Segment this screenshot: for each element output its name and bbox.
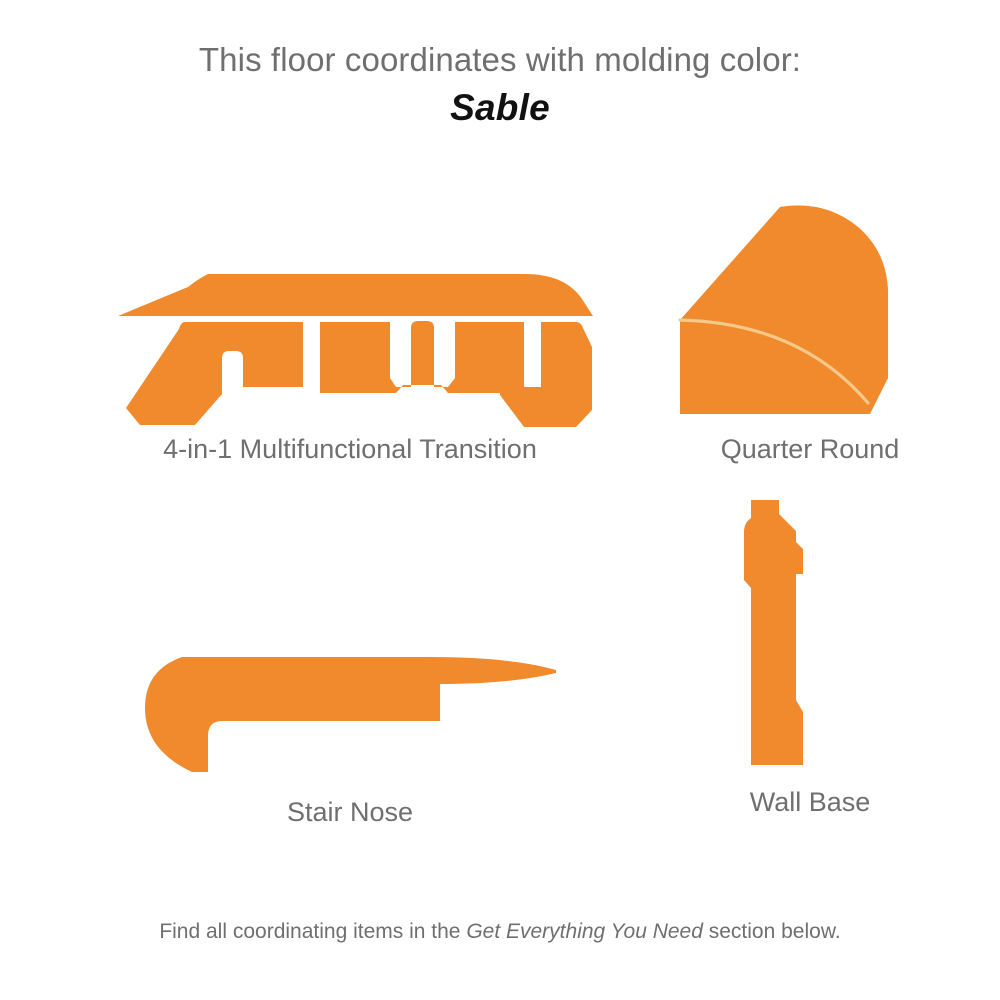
stair-nose-label: Stair Nose (0, 796, 700, 828)
molding-profile-wall-base-icon (620, 470, 1000, 790)
header: This floor coordinates with molding colo… (0, 38, 1000, 134)
wall-base-label: Wall Base (620, 786, 1000, 818)
footer-prefix: Find all coordinating items in the (159, 920, 466, 943)
transition-figure (0, 195, 700, 440)
product-transition: 4-in-1 Multifunctional Transition (0, 195, 700, 495)
product-quarter-round: Quarter Round (620, 185, 1000, 495)
footer-suffix: section below. (703, 920, 841, 943)
quarter-round-label: Quarter Round (620, 433, 1000, 465)
product-stair-nose: Stair Nose (0, 600, 700, 860)
molding-profile-quarter-round-icon (620, 185, 1000, 435)
page-title: This floor coordinates with molding colo… (0, 38, 1000, 82)
molding-coordination-panel: This floor coordinates with molding colo… (0, 0, 1000, 1000)
wall-base-figure (620, 470, 1000, 795)
footer-emphasis: Get Everything You Need (466, 920, 703, 943)
molding-profile-4in1-transition-icon (0, 195, 700, 435)
molding-color-name: Sable (0, 82, 1000, 134)
transition-label: 4-in-1 Multifunctional Transition (0, 433, 700, 465)
quarter-round-figure (620, 185, 1000, 440)
stair-nose-figure (0, 600, 700, 795)
product-wall-base: Wall Base (620, 470, 1000, 860)
molding-profile-stair-nose-icon (0, 600, 700, 790)
footer-note: Find all coordinating items in the Get E… (0, 918, 1000, 946)
